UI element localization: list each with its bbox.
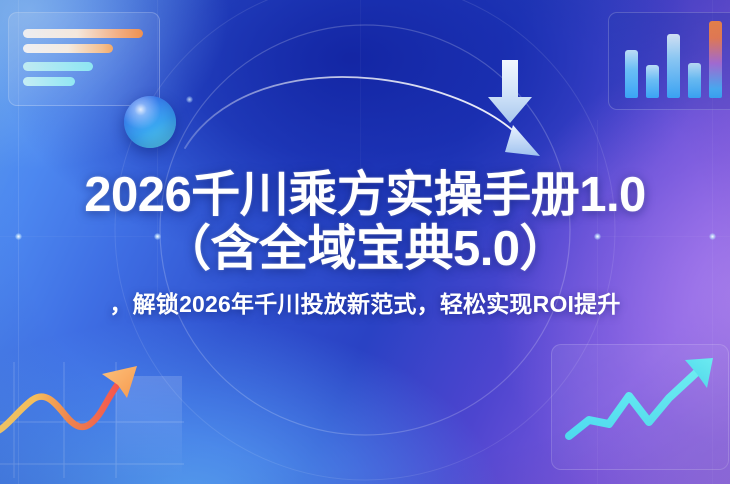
spark-dot [15, 233, 22, 240]
spark-dot [709, 233, 716, 240]
page-title-line-2: （含全域宝典5.0） [0, 222, 730, 276]
page-title-line-1: 2026千川乘方实操手册1.0 [0, 168, 730, 222]
card-bar-orange-long [23, 29, 143, 38]
card-bar-orange-short [23, 44, 113, 53]
chart-bar [625, 50, 638, 98]
guide-line-horizontal [596, 236, 730, 237]
bar-chart-card [608, 12, 730, 110]
card-bar-cyan-short [23, 77, 75, 86]
chart-bar-highlight [709, 21, 722, 98]
down-arrow-icon [487, 60, 533, 124]
chart-bar [688, 63, 701, 98]
card-bar-cyan-long [23, 62, 93, 71]
spark-dot [186, 96, 193, 103]
guide-line-vertical [360, 0, 361, 180]
banner-text-block: 2026千川乘方实操手册1.0 （含全域宝典5.0） ，解锁2026年千川投放新… [0, 168, 730, 319]
spark-dot [154, 233, 161, 240]
spark-dot [594, 233, 601, 240]
chart-bar [646, 65, 659, 98]
growth-arrow-icon [551, 344, 727, 468]
guide-line-horizontal [0, 236, 160, 237]
promo-banner: 2026千川乘方实操手册1.0 （含全域宝典5.0） ，解锁2026年千川投放新… [0, 0, 730, 484]
blue-sphere [124, 96, 176, 148]
growth-line-chart [0, 352, 184, 484]
page-subtitle: ，解锁2026年千川投放新范式，轻松实现ROI提升 [0, 289, 730, 319]
document-card [8, 12, 160, 106]
chart-bar [667, 34, 680, 98]
